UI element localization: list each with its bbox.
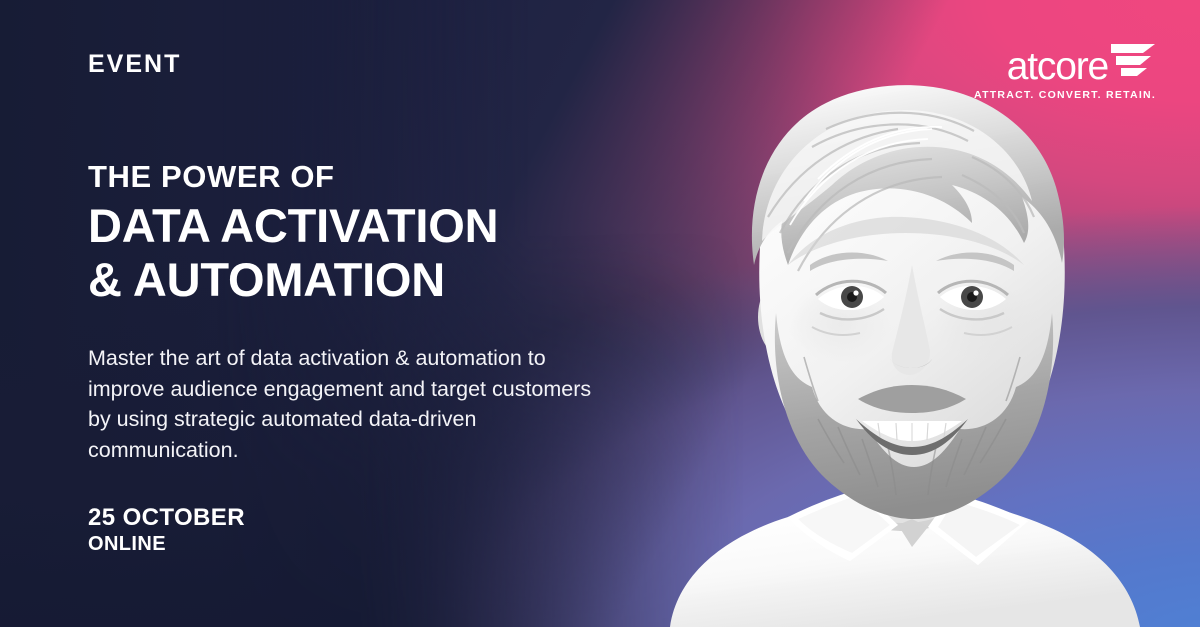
atcore-logo[interactable]: atcore ATTRACT. CONVERT. RETAIN. (974, 43, 1156, 101)
event-description: Master the art of data activation & auto… (88, 343, 608, 466)
logo-wordmark: atcore (1007, 50, 1108, 84)
headline-kicker: THE POWER OF (88, 160, 498, 193)
headline-block: THE POWER OF DATA ACTIVATION & AUTOMATIO… (88, 160, 498, 307)
event-location: ONLINE (88, 532, 245, 557)
wing-icon (1110, 43, 1156, 81)
speaker-portrait (612, 27, 1200, 627)
event-date: 25 OCTOBER (88, 504, 245, 532)
eyebrow-label: EVENT (88, 52, 181, 77)
headline-line-1: DATA ACTIVATION (88, 199, 498, 253)
event-banner: EVENT THE POWER OF DATA ACTIVATION & AUT… (0, 0, 1200, 627)
logo-tagline: ATTRACT. CONVERT. RETAIN. (974, 89, 1156, 101)
headline-line-2: & AUTOMATION (88, 253, 498, 307)
event-details-block: 25 OCTOBER ONLINE (88, 504, 245, 557)
